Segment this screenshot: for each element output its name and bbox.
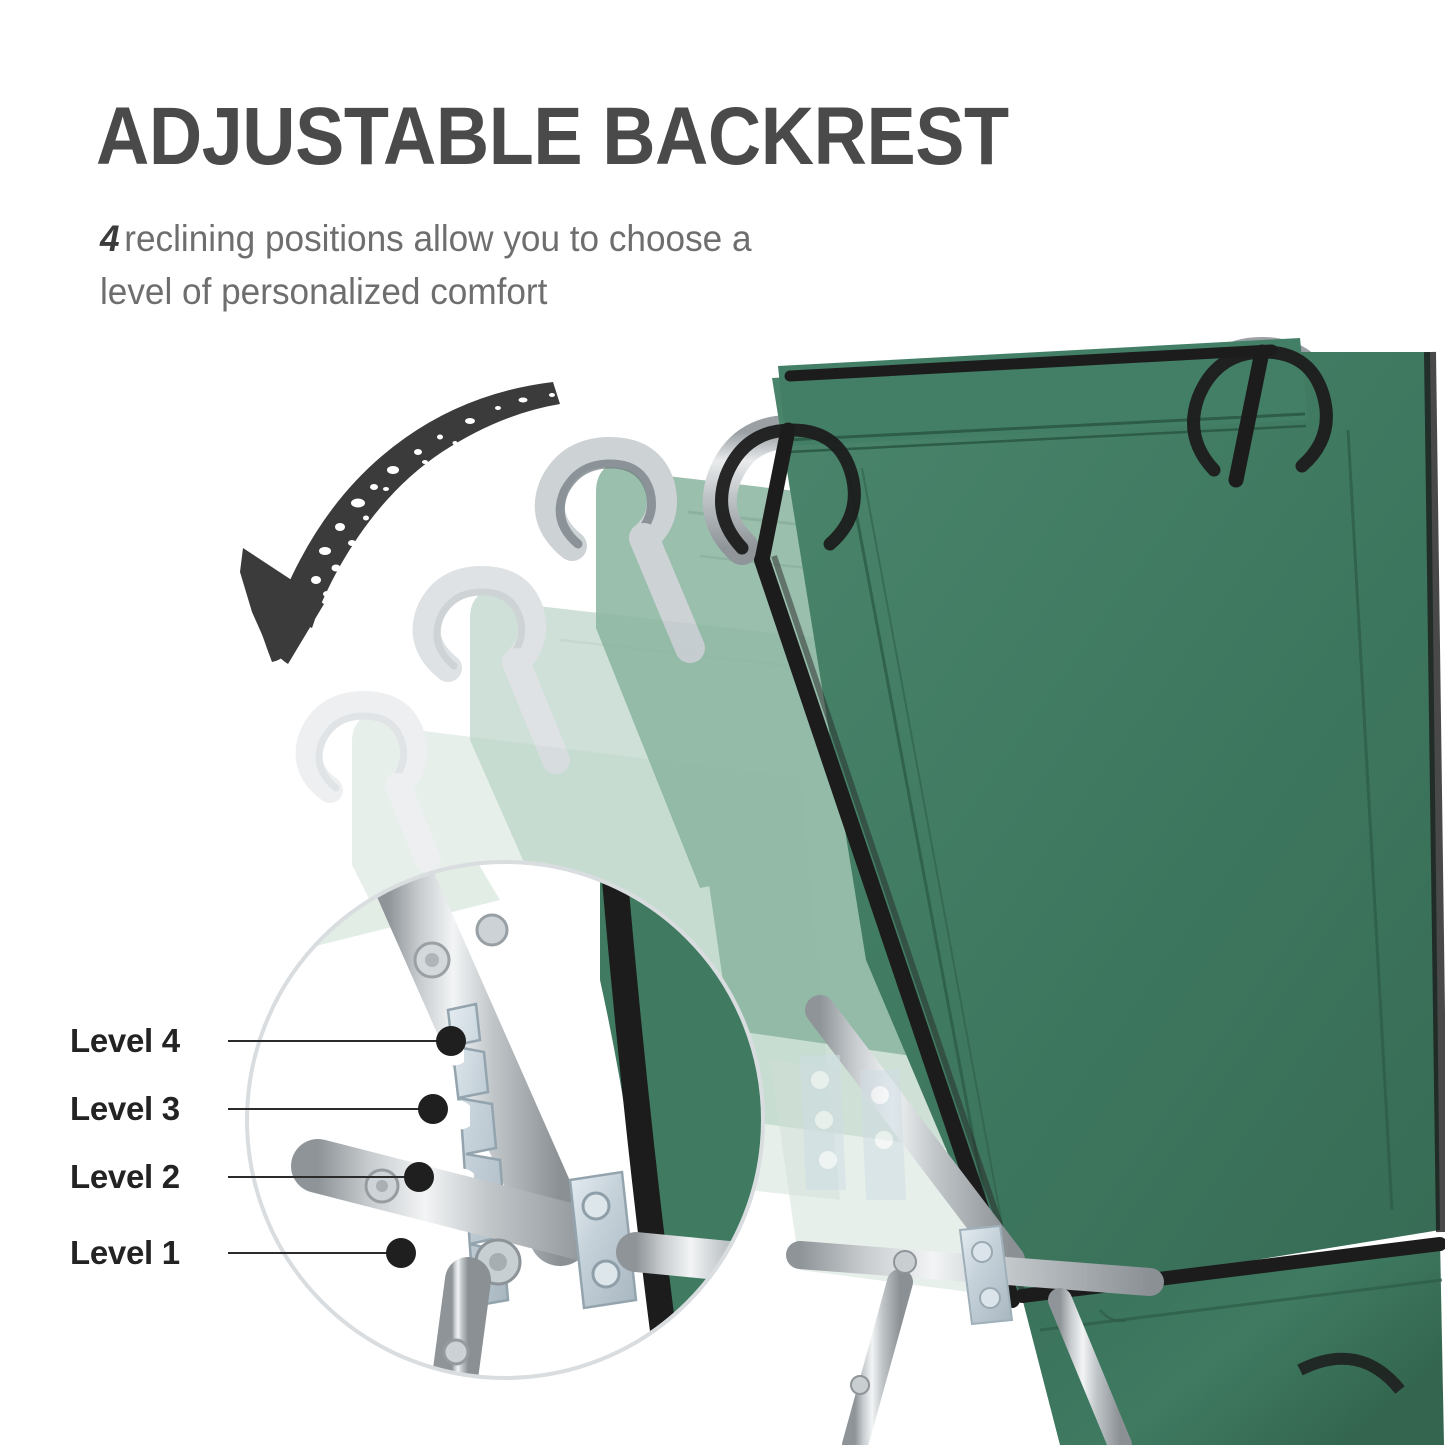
callout-dot-level-4 — [436, 1026, 466, 1056]
subtitle-text: reclining positions allow you to choose … — [124, 218, 751, 259]
callout-dot-level-2 — [404, 1162, 434, 1192]
subtitle-number: 4 — [100, 218, 124, 259]
callout-label-level-1: Level 1 — [70, 1234, 180, 1272]
leader-line-level-3 — [228, 1108, 432, 1110]
page-title: ADJUSTABLE BACKREST — [96, 95, 1009, 179]
leader-line-level-1 — [228, 1252, 400, 1254]
callout-label-level-2: Level 2 — [70, 1158, 180, 1196]
callout-label-level-3: Level 3 — [70, 1090, 180, 1128]
subtitle-line-2: level of personalized comfort — [100, 265, 547, 318]
leader-line-level-4 — [228, 1040, 450, 1042]
callout-label-level-4: Level 4 — [70, 1022, 180, 1060]
callout-dot-level-3 — [418, 1094, 448, 1124]
subtitle-line-1: 4reclining positions allow you to choose… — [100, 212, 752, 265]
callout-dot-level-1 — [386, 1238, 416, 1268]
infographic-canvas: ADJUSTABLE BACKREST 4reclining positions… — [0, 0, 1445, 1445]
leader-line-level-2 — [228, 1176, 418, 1178]
